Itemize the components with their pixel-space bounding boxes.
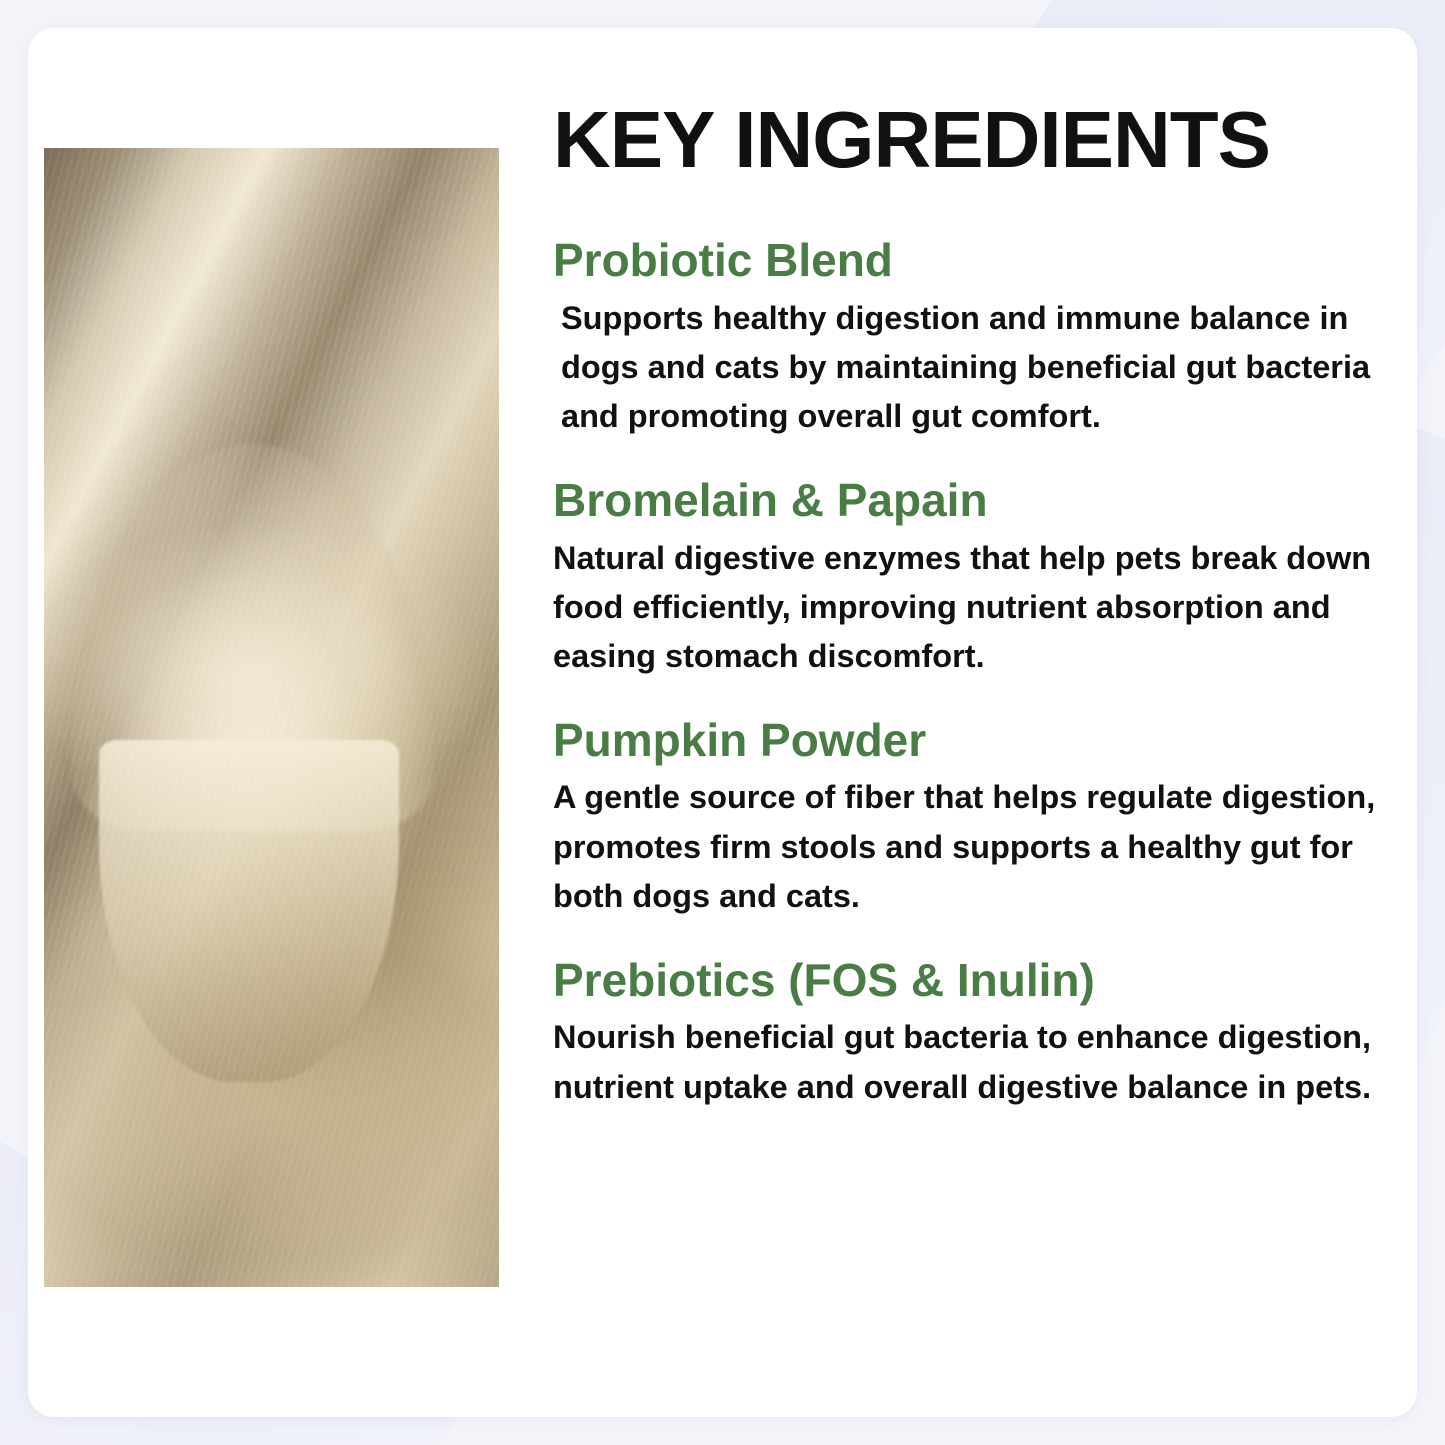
ingredient-item-3: Pumpkin Powder A gentle source of fiber … [553, 716, 1377, 922]
product-photo [44, 148, 499, 1287]
ingredient-item-2: Bromelain & Papain Natural digestive enz… [553, 476, 1377, 682]
ingredient-description-1: Supports healthy digestion and immune ba… [553, 294, 1377, 442]
ingredient-name-2: Bromelain & Papain [553, 476, 1377, 526]
measuring-scoop [99, 740, 399, 1082]
powder-mound [71, 444, 435, 831]
powder-photo-image [44, 148, 499, 1287]
ingredient-description-2: Natural digestive enzymes that help pets… [553, 534, 1377, 682]
ingredient-item-4: Prebiotics (FOS & Inulin) Nourish benefi… [553, 956, 1377, 1112]
ingredient-name-3: Pumpkin Powder [553, 716, 1377, 766]
ingredient-description-3: A gentle source of fiber that helps regu… [553, 773, 1377, 921]
ingredient-item-1: Probiotic Blend Supports healthy digesti… [553, 236, 1377, 442]
text-column: KEY INGREDIENTS Probiotic Blend Supports… [533, 28, 1417, 1417]
ingredient-name-4: Prebiotics (FOS & Inulin) [553, 956, 1377, 1006]
page-title: KEY INGREDIENTS [553, 28, 1377, 180]
poster-canvas: KEY INGREDIENTS Probiotic Blend Supports… [0, 0, 1445, 1445]
content-card: KEY INGREDIENTS Probiotic Blend Supports… [28, 28, 1417, 1417]
ingredient-name-1: Probiotic Blend [553, 236, 1377, 286]
ingredient-description-4: Nourish beneficial gut bacteria to enhan… [553, 1013, 1377, 1112]
